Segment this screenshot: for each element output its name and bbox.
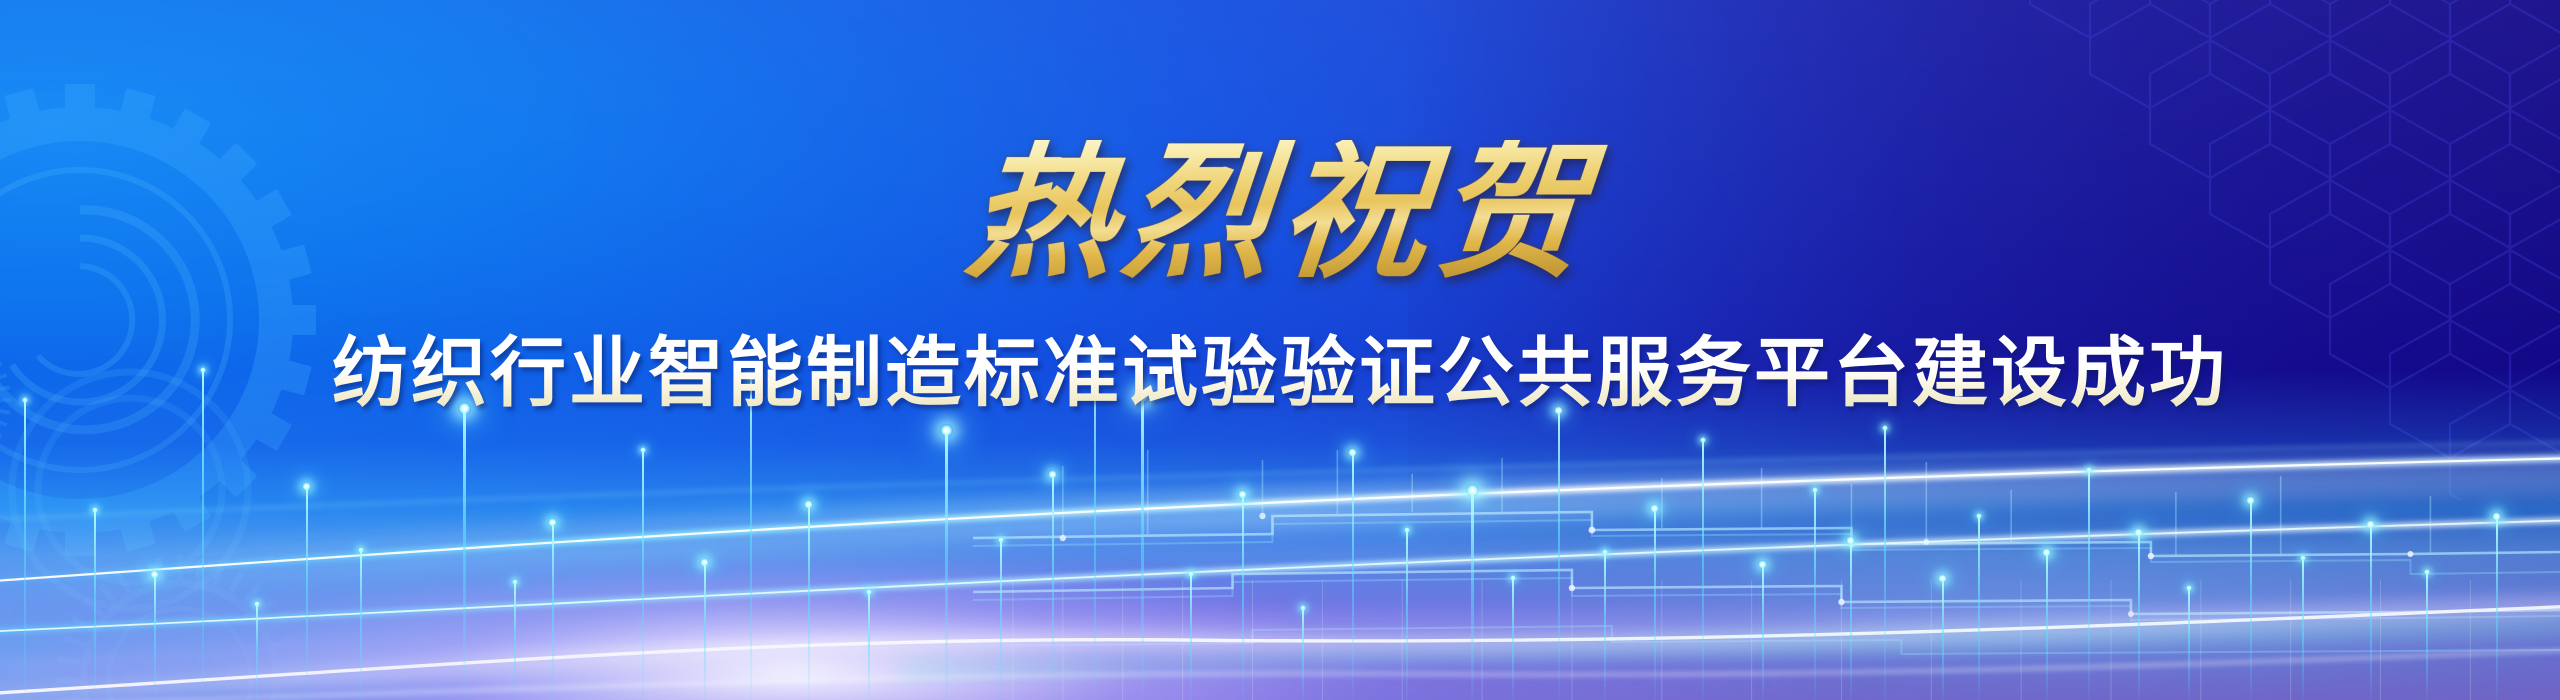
light-pin-icon xyxy=(1846,536,1855,700)
light-pin-icon xyxy=(1348,448,1357,700)
light-pin-icon xyxy=(1938,574,1947,700)
light-pin-icon xyxy=(1238,490,1247,700)
headline-title-wrap: 热烈祝贺 xyxy=(0,140,2560,288)
light-pin-icon xyxy=(200,367,206,700)
light-pin-icon xyxy=(1554,406,1563,700)
light-pin-icon xyxy=(358,547,364,700)
light-pin-icon xyxy=(22,397,28,700)
light-pin-icon xyxy=(2086,467,2092,700)
light-pin-icon xyxy=(1976,513,1982,700)
light-pin-icon xyxy=(548,518,557,700)
light-pin-icon xyxy=(1602,549,1608,700)
light-pin-icon xyxy=(1136,390,1149,700)
light-pin-icon xyxy=(1812,487,1818,700)
light-pin-icon xyxy=(2186,585,2192,700)
light-pin-icon xyxy=(92,507,98,700)
light-pin-icon xyxy=(1300,605,1306,700)
light-pin-icon xyxy=(2492,512,2501,700)
light-pin-icon xyxy=(1188,571,1194,700)
light-pin-icon xyxy=(748,375,754,700)
light-pin-icon xyxy=(2366,520,2375,700)
light-pin-icon xyxy=(866,589,872,700)
light-pin-icon xyxy=(458,402,471,700)
light-pin-icon xyxy=(1404,527,1410,700)
headline-subtitle: 纺织行业智能制造标准试验验证公共服务平台建设成功 xyxy=(332,332,2228,414)
light-pin-icon xyxy=(700,558,709,700)
light-pin-icon xyxy=(1882,425,1888,700)
light-pin-icon xyxy=(1650,504,1659,700)
light-pin-icon xyxy=(1466,484,1479,700)
light-pin-icon xyxy=(1510,575,1516,700)
light-pin-icon xyxy=(2134,528,2143,700)
light-pin-icon xyxy=(804,500,813,700)
light-pin-icon xyxy=(1048,470,1057,700)
headline-subtitle-wrap: 纺织行业智能制造标准试验验证公共服务平台建设成功 xyxy=(0,332,2560,414)
light-pin-icon xyxy=(150,570,159,700)
light-pin-icon xyxy=(2300,555,2306,700)
celebration-banner: 热烈祝贺 纺织行业智能制造标准试验验证公共服务平台建设成功 xyxy=(0,0,2560,700)
light-pin-icon xyxy=(302,482,311,700)
light-pin-icon xyxy=(254,601,260,700)
light-pin-icon xyxy=(640,447,646,700)
light-pin-icon xyxy=(1700,437,1706,700)
light-pin-icon xyxy=(940,424,953,700)
headline-title: 热烈祝贺 xyxy=(952,140,1609,288)
light-pin-icon xyxy=(998,537,1004,700)
light-pin-icon xyxy=(2246,496,2255,700)
light-pin-icon xyxy=(1758,560,1767,700)
light-pin-icon xyxy=(512,579,518,700)
light-pin-icon xyxy=(2424,569,2430,700)
light-pin-icon xyxy=(2042,548,2051,700)
